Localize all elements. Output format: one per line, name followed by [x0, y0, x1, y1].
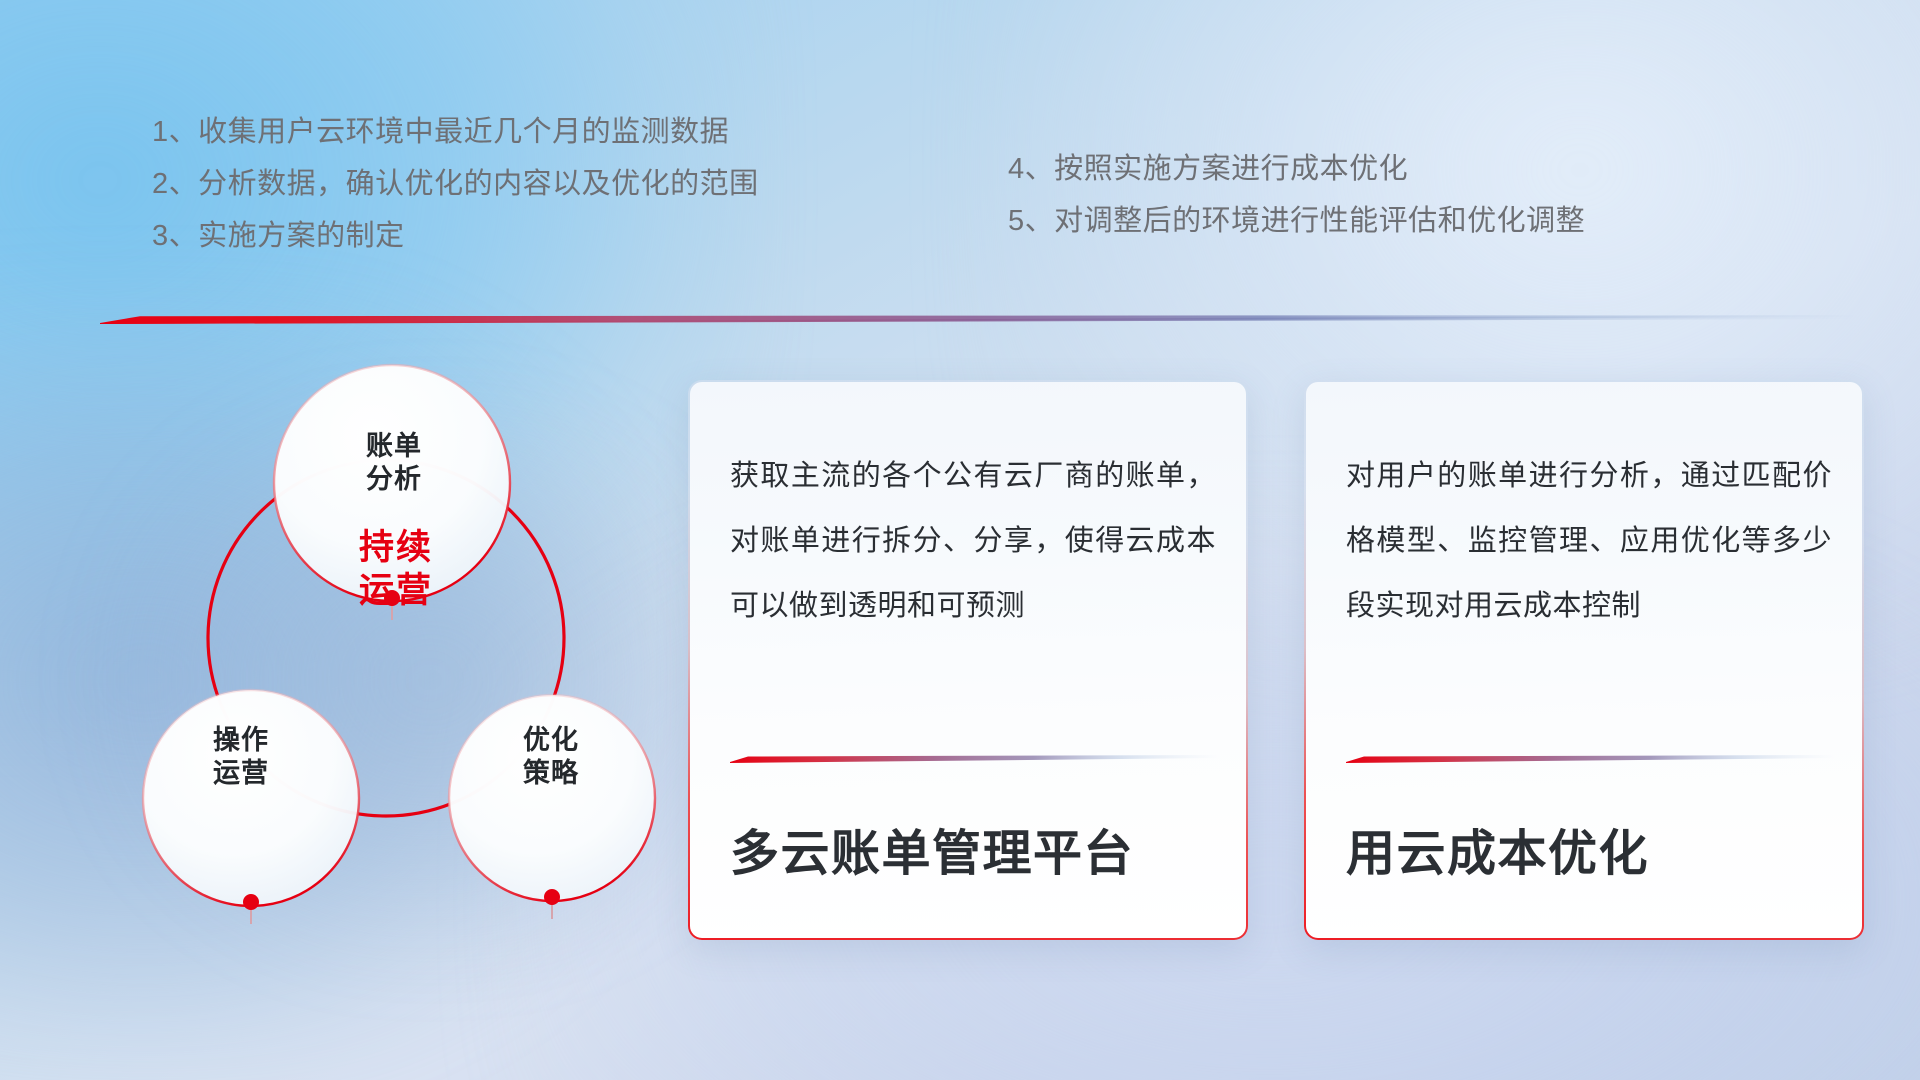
- step-item-1: 1、收集用户云环境中最近几个月的监测数据: [152, 118, 759, 147]
- cycle-node-optimize-strategy[interactable]: [449, 695, 655, 901]
- feature-card-2-divider-shape: [1346, 754, 1836, 763]
- steps-right-column: 4、按照实施方案进行成本优化 5、对调整后的环境进行性能评估和优化调整: [1008, 155, 1585, 259]
- header-divider: [100, 312, 1860, 324]
- cycle-dot-left: [243, 894, 259, 910]
- cycle-dot-right: [544, 889, 560, 905]
- feature-card-2-body: 对用户的账单进行分析，通过匹配价格模型、监控管理、应用优化等多少段实现对用云成本…: [1346, 444, 1832, 639]
- feature-card-2-inner: 对用户的账单进行分析，通过匹配价格模型、监控管理、应用优化等多少段实现对用云成本…: [1306, 382, 1862, 938]
- cycle-diagram-svg: [96, 348, 676, 948]
- cycle-dot-top: [384, 590, 400, 606]
- cycle-node-bill-analysis[interactable]: [274, 365, 510, 601]
- feature-card-1-body: 获取主流的各个公有云厂商的账单，对账单进行拆分、分享，使得云成本可以做到透明和可…: [730, 444, 1216, 639]
- feature-card-1-title: 多云账单管理平台: [730, 814, 1226, 885]
- feature-card-cloud-cost-optimization[interactable]: 对用户的账单进行分析，通过匹配价格模型、监控管理、应用优化等多少段实现对用云成本…: [1304, 380, 1864, 940]
- step-item-4: 4、按照实施方案进行成本优化: [1008, 155, 1585, 184]
- feature-card-2-divider: [1346, 750, 1836, 759]
- step-item-3: 3、实施方案的制定: [152, 222, 759, 251]
- step-item-5: 5、对调整后的环境进行性能评估和优化调整: [1008, 207, 1585, 236]
- steps-left-column: 1、收集用户云环境中最近几个月的监测数据 2、分析数据，确认优化的内容以及优化的…: [152, 118, 759, 274]
- cycle-diagram: 账单 分析 操作 运营 优化 策略 持续 运营: [96, 348, 676, 948]
- feature-card-multi-cloud-billing[interactable]: 获取主流的各个公有云厂商的账单，对账单进行拆分、分享，使得云成本可以做到透明和可…: [688, 380, 1248, 940]
- feature-card-2-title: 用云成本优化: [1346, 814, 1842, 885]
- feature-card-1-divider: [730, 750, 1220, 759]
- steps-section: 1、收集用户云环境中最近几个月的监测数据 2、分析数据，确认优化的内容以及优化的…: [0, 0, 1920, 300]
- header-divider-shape: [100, 312, 1860, 324]
- step-item-2: 2、分析数据，确认优化的内容以及优化的范围: [152, 170, 759, 199]
- feature-card-1-inner: 获取主流的各个公有云厂商的账单，对账单进行拆分、分享，使得云成本可以做到透明和可…: [690, 382, 1246, 938]
- cycle-node-operation-ops[interactable]: [143, 690, 359, 906]
- feature-card-1-divider-shape: [730, 754, 1220, 763]
